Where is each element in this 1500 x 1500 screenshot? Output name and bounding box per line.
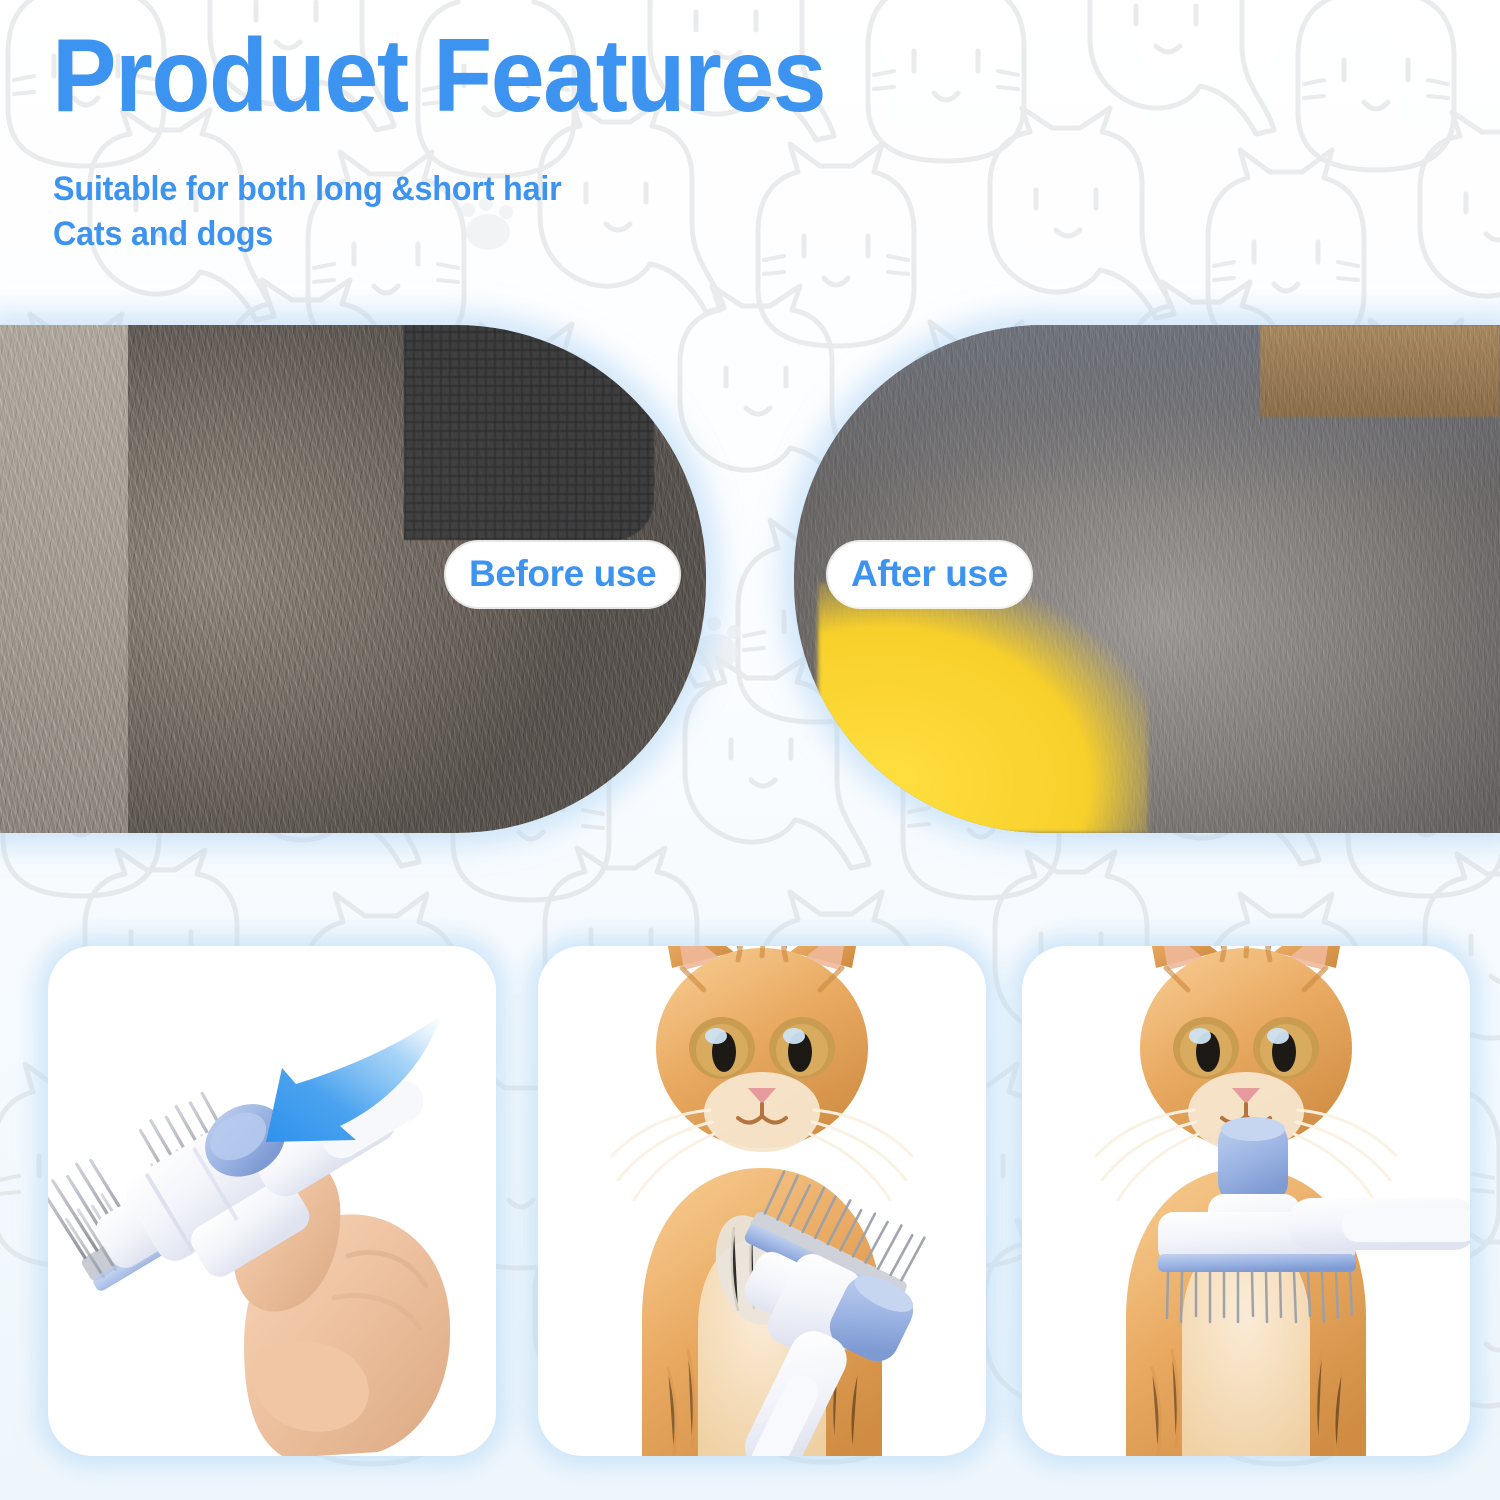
feature-card-row: [0, 930, 1500, 1470]
feature-card-fur-released: [1022, 946, 1470, 1456]
subtitle-line-1: Suitable for both long &short hair: [53, 170, 562, 209]
yellow-cushion: [818, 583, 1148, 833]
feature-card-self-cleaning-button: [48, 946, 496, 1456]
badge-after-use: After use: [834, 548, 1025, 601]
cat-with-brush-illustration: [538, 946, 986, 1456]
cage-mesh-background: [404, 325, 654, 540]
before-after-comparison: [0, 325, 1500, 833]
cat-with-retracted-brush-illustration: [1022, 946, 1470, 1456]
header: Produet Features Suitable for both long …: [0, 0, 1500, 310]
page-title: Produet Features: [52, 22, 825, 131]
feature-card-brushing-cat: [538, 946, 986, 1456]
brush-and-hand-illustration: [48, 946, 496, 1456]
product-features-page: Produet Features Suitable for both long …: [0, 0, 1500, 1500]
badge-before-use: Before use: [452, 548, 673, 601]
subtitle-line-2: Cats and dogs: [53, 215, 273, 254]
